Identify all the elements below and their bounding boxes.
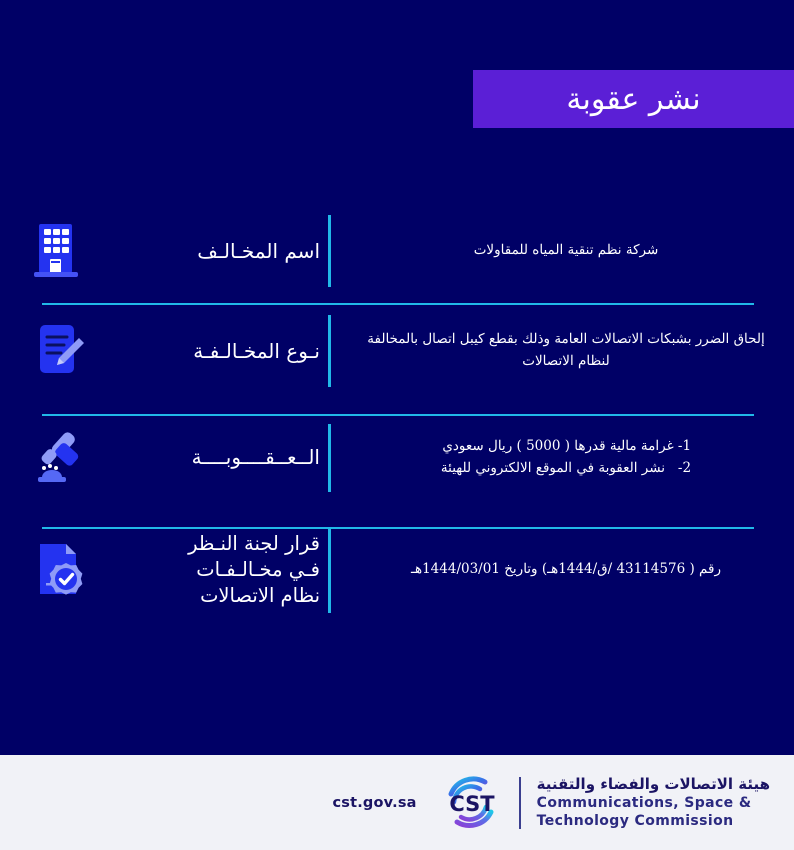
announcement-page: نشر عقوبة [0,0,794,850]
vertical-accent-bar [328,424,331,492]
details-table: اسم المخـالـف شركة نظم تنقية المياه للمق… [0,205,794,630]
row-value-violator-name: شركة نظم تنقية المياه للمقاولات [474,240,659,262]
row-separator-cell [320,315,338,387]
gavel-icon [28,427,88,489]
value-line: لنظام الاتصالات [367,351,764,373]
org-name-arabic: هيئة الاتصالات والفضاء والتقنية [537,775,770,794]
row-value-violation-type: إلحاق الضرر بشبكات الاتصالات العامة وذلك… [367,329,764,372]
row-value-committee-decision: رقم ( 43114576 /ق/1444هـ) وتاريخ 1444/03… [411,559,721,581]
row-label-committee-decision: قرار لجنة النـظر فـي مخـالـفـات نظام الا… [129,531,320,608]
value-line: رقم ( 43114576 /ق/1444هـ) وتاريخ 1444/03… [411,559,721,581]
row-value-cell: إلحاق الضرر بشبكات الاتصالات العامة وذلك… [338,329,794,372]
label-line: نظام الاتصالات [129,583,320,609]
org-name-english-line1: Communications, Space & [537,794,770,812]
label-line: فـي مخـالـفـات [129,557,320,583]
row-label-cell: قرار لجنة النـظر فـي مخـالـفـات نظام الا… [115,531,320,608]
header-banner: نشر عقوبة [473,70,794,128]
vertical-accent-bar [328,315,331,387]
vertical-accent-bar [328,527,331,613]
value-line: شركة نظم تنقية المياه للمقاولات [474,240,659,262]
cst-wordmark: CST [449,792,495,816]
row-label-penalty: الــعــقــــوبــــة [129,444,320,470]
row-value-cell: 1- غرامة مالية قدرها ( 5000 ) ريال سعودي… [338,436,794,480]
row-label-violator-name: اسم المخـالـف [129,238,320,264]
row-separator-cell [320,424,338,492]
row-value-cell: شركة نظم تنقية المياه للمقاولات [338,240,794,262]
row-divider [42,527,754,529]
website-url[interactable]: cst.gov.sa [332,795,440,811]
row-label-violation-type: نـوع المخـالـفـة [129,338,320,364]
table-row-penalty: الــعــقــــوبــــة 1- غرامة مالية قدرها… [0,405,794,510]
row-label-cell: نـوع المخـالـفـة [115,338,320,364]
document-pen-icon [28,320,88,382]
row-label-cell: الــعــقــــوبــــة [115,444,320,470]
row-separator-cell [320,527,338,613]
row-icon-cell [0,427,115,489]
value-line: 2- نشر العقوبة في الموقع الالكتروني للهي… [441,458,691,480]
row-value-cell: رقم ( 43114576 /ق/1444هـ) وتاريخ 1444/03… [338,559,794,581]
row-separator-cell [320,215,338,287]
page-title: نشر عقوبة [566,82,700,117]
vertical-accent-bar [328,215,331,287]
row-icon-cell [0,220,115,282]
row-divider [42,414,754,416]
logo-divider [519,777,521,829]
certified-document-icon [28,539,88,601]
table-row-violation-type: نـوع المخـالـفـة إلحاق الضرر بشبكات الات… [0,297,794,405]
label-line: قرار لجنة النـظر [129,531,320,557]
row-icon-cell [0,539,115,601]
row-value-penalty: 1- غرامة مالية قدرها ( 5000 ) ريال سعودي… [441,436,691,480]
table-row-violator-name: اسم المخـالـف شركة نظم تنقية المياه للمق… [0,205,794,297]
footer-bar: CST هيئة الاتصالات والفضاء والتقنية Comm… [0,755,794,850]
building-icon [28,220,88,282]
cst-logo-icon: CST [441,772,503,834]
cst-logo: CST هيئة الاتصالات والفضاء والتقنية Comm… [441,772,770,834]
row-divider [42,303,754,305]
org-name-english-line2: Technology Commission [537,812,770,830]
value-line: إلحاق الضرر بشبكات الاتصالات العامة وذلك… [367,329,764,351]
row-label-cell: اسم المخـالـف [115,238,320,264]
row-icon-cell [0,320,115,382]
value-line: 1- غرامة مالية قدرها ( 5000 ) ريال سعودي [441,436,691,458]
